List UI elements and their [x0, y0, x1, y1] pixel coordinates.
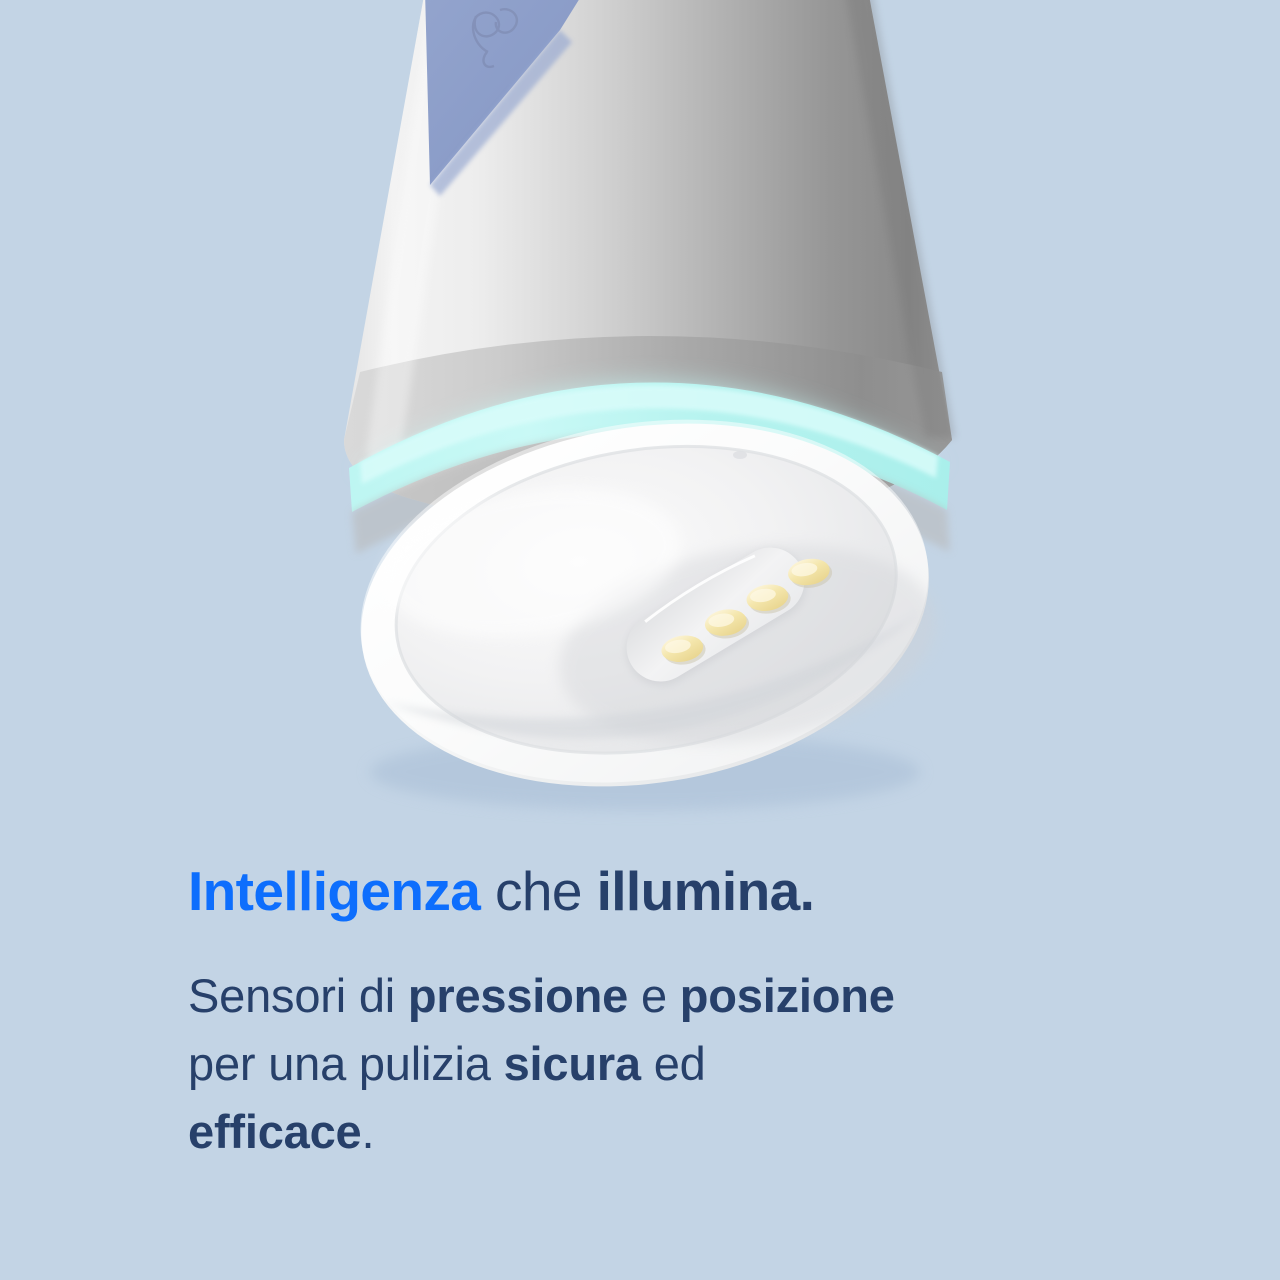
subcopy-strong-efficace: efficace: [188, 1105, 361, 1158]
headline-period: .: [800, 860, 815, 922]
subcopy-line-2: per una pulizia sicura ed: [188, 1030, 1188, 1098]
subcopy-period: .: [361, 1105, 374, 1158]
headline-middle-word: che: [495, 860, 582, 922]
copy-block: Intelligenza che illumina. Sensori di pr…: [188, 862, 1188, 1165]
headline: Intelligenza che illumina.: [188, 862, 1188, 920]
product-image: [0, 0, 1280, 830]
toothbrush-handle-illustration: [0, 0, 1280, 830]
subcopy-strong-pressione: pressione: [408, 969, 628, 1022]
subcopy-text: Sensori di: [188, 969, 408, 1022]
subcopy-text: ed: [641, 1037, 706, 1090]
subcopy-text: e: [628, 969, 680, 1022]
headline-spacer-2: [582, 860, 597, 922]
cap-center-dimple: [733, 451, 747, 459]
headline-strong-word: illumina: [597, 860, 800, 922]
subcopy-text: per una pulizia: [188, 1037, 504, 1090]
subcopy-strong-posizione: posizione: [680, 969, 895, 1022]
promo-card: Intelligenza che illumina. Sensori di pr…: [0, 0, 1280, 1280]
subcopy-line-3: efficace.: [188, 1098, 1188, 1166]
subcopy-line-1: Sensori di pressione e posizione: [188, 962, 1188, 1030]
headline-accent-word: Intelligenza: [188, 860, 480, 922]
subcopy-strong-sicura: sicura: [504, 1037, 641, 1090]
subcopy: Sensori di pressione e posizione per una…: [188, 962, 1188, 1165]
headline-spacer-1: [480, 860, 495, 922]
